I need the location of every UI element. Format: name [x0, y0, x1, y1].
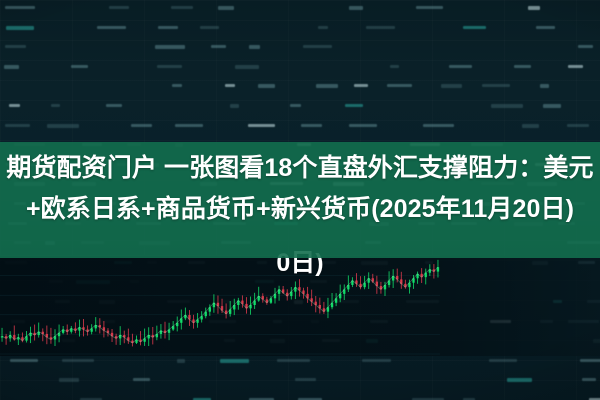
vignette-overlay [0, 0, 600, 400]
screenshot-root: 0日) 期货配资门户 一张图看18个直盘外汇支撑阻力：美元+欧系日系+商品货币+… [0, 0, 600, 400]
